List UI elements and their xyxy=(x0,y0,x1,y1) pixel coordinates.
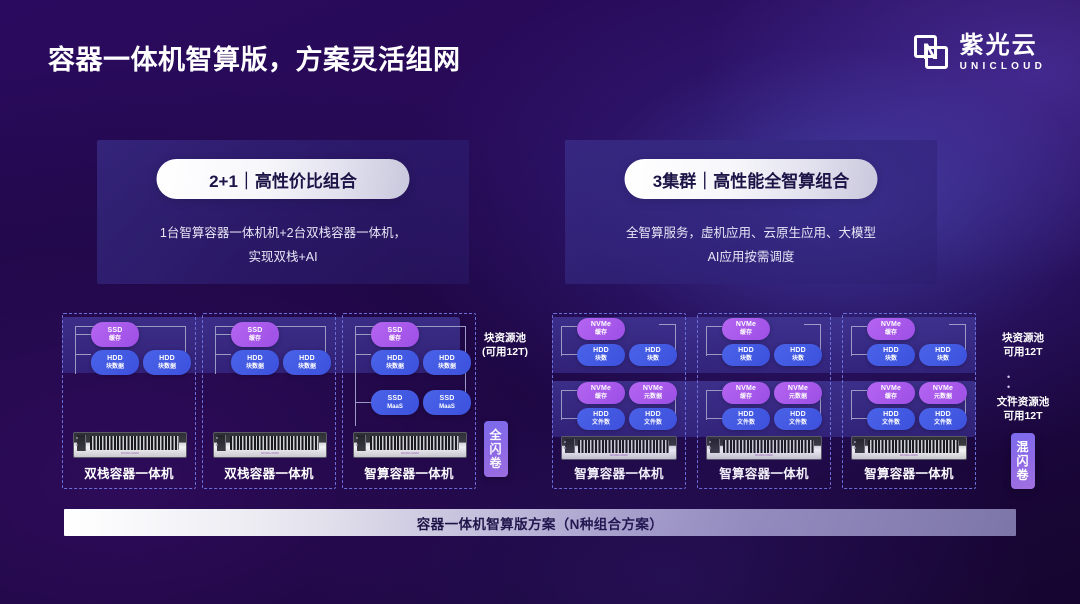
node-nvme-cache-block[interactable]: NVMe 缓存 xyxy=(577,318,625,340)
volume-tag-left[interactable]: 全 闪 卷 xyxy=(484,421,508,477)
option-pill-right: 3集群｜高性能全智算组合 xyxy=(625,159,878,199)
node-column-left-3[interactable]: SSD 缓存 HDD 块数据 HDD 块数据 SSD MaaS SSD Ma xyxy=(342,313,476,489)
node-ssd-cache[interactable]: SSD 缓存 xyxy=(371,322,419,347)
column-label: 智算容器一体机 xyxy=(698,463,830,482)
server-appliance: UNICLOUD xyxy=(353,432,467,458)
volume-tag-char-3: 卷 xyxy=(1016,468,1029,482)
node-hdd-block-1[interactable]: HDD 块数据 xyxy=(231,350,279,375)
column-label: 智算容器一体机 xyxy=(553,463,685,482)
option-pill-left: 2+1｜高性价比组合 xyxy=(157,159,410,199)
option-desc-left-line2: 实现双栈+AI xyxy=(97,245,469,269)
volume-tag-char-3: 卷 xyxy=(489,456,502,470)
architecture-diagram: SSD 缓存 HDD 块数据 HDD 块数据 UNICLOUD 双栈容器一体机 xyxy=(0,305,1080,495)
node-nvme-metadata[interactable]: NVMe 元数据 xyxy=(774,382,822,404)
node-ssd-maas-1[interactable]: SSD MaaS xyxy=(371,390,419,415)
pool-label-line1: 块资源池 xyxy=(466,331,544,345)
column-label: 双栈容器一体机 xyxy=(63,463,195,482)
server-appliance: UNICLOUD xyxy=(213,432,327,458)
server-appliance: UNICLOUD xyxy=(706,436,822,460)
pool-label-block-right: 块资源池 可用12T xyxy=(984,331,1062,359)
option-panel-left: 2+1｜高性价比组合 1台智算容器一体机机+2台双栈容器一体机， 实现双栈+AI xyxy=(97,140,469,284)
pool-label-file-line1: 文件资源池 xyxy=(984,395,1062,409)
node-hdd-block-2[interactable]: HDD 块数 xyxy=(774,344,822,366)
column-label: 智算容器一体机 xyxy=(343,463,475,482)
node-hdd-file-2[interactable]: HDD 文件数 xyxy=(774,408,822,430)
node-ssd-maas-2[interactable]: SSD MaaS xyxy=(423,390,471,415)
node-hdd-block-1[interactable]: HDD 块数 xyxy=(867,344,915,366)
slide-canvas: 容器一体机智算版，方案灵活组网 N 紫光云 UNICLOUD 2+1｜高性价比组… xyxy=(0,0,1080,604)
option-desc-left: 1台智算容器一体机机+2台双栈容器一体机， 实现双栈+AI xyxy=(97,221,469,269)
option-desc-right-line2: AI应用按需调度 xyxy=(565,245,937,269)
node-nvme-cache-block[interactable]: NVMe 缓存 xyxy=(722,318,770,340)
volume-tag-char-2: 闪 xyxy=(489,442,502,456)
option-desc-right-line1: 全智算服务，虚机应用、云原生应用、大模型 xyxy=(565,221,937,245)
footer-caption: 容器一体机智算版方案（N种组合方案） xyxy=(417,513,663,533)
node-hdd-file-2[interactable]: HDD 文件数 xyxy=(629,408,677,430)
node-nvme-metadata[interactable]: NVMe 元数据 xyxy=(629,382,677,404)
option-panel-right: 3集群｜高性能全智算组合 全智算服务，虚机应用、云原生应用、大模型 AI应用按需… xyxy=(565,140,937,284)
pool-label-file-right: 文件资源池 可用12T xyxy=(984,395,1062,423)
server-appliance: UNICLOUD xyxy=(561,436,677,460)
node-nvme-cache-file[interactable]: NVMe 缓存 xyxy=(867,382,915,404)
node-column-right-3[interactable]: NVMe 缓存 HDD 块数 HDD 块数 NVMe 缓存 NVMe 元数据 xyxy=(842,313,976,489)
pool-label-block-line2: 可用12T xyxy=(984,345,1062,359)
node-hdd-block-2[interactable]: HDD 块数 xyxy=(629,344,677,366)
volume-tag-char-1: 混 xyxy=(1016,440,1029,454)
option-desc-right: 全智算服务，虚机应用、云原生应用、大模型 AI应用按需调度 xyxy=(565,221,937,269)
cluster-group-right: NVMe 缓存 HDD 块数 HDD 块数 NVMe 缓存 NVMe 元数据 xyxy=(552,305,1018,495)
pool-label-block-line1: 块资源池 xyxy=(984,331,1062,345)
brand-letter: N xyxy=(923,41,939,63)
slide-header: 容器一体机智算版，方案灵活组网 N 紫光云 UNICLOUD xyxy=(0,0,1080,104)
node-column-right-2[interactable]: NVMe 缓存 HDD 块数 HDD 块数 NVMe 缓存 NVMe 元数据 xyxy=(697,313,831,489)
node-hdd-file-1[interactable]: HDD 文件数 xyxy=(722,408,770,430)
node-column-right-1[interactable]: NVMe 缓存 HDD 块数 HDD 块数 NVMe 缓存 NVMe 元数据 xyxy=(552,313,686,489)
pool-label-block-left: 块资源池 (可用12T) xyxy=(466,331,544,359)
unicloud-logo-icon: N xyxy=(914,35,950,71)
node-nvme-cache-block[interactable]: NVMe 缓存 xyxy=(867,318,915,340)
node-hdd-block-2[interactable]: HDD 块数据 xyxy=(143,350,191,375)
node-hdd-block-1[interactable]: HDD 块数据 xyxy=(371,350,419,375)
node-hdd-file-2[interactable]: HDD 文件数 xyxy=(919,408,967,430)
node-nvme-cache-file[interactable]: NVMe 缓存 xyxy=(722,382,770,404)
volume-tag-char-1: 全 xyxy=(489,428,502,442)
pool-label-line2: (可用12T) xyxy=(466,345,544,359)
volume-tag-char-2: 闪 xyxy=(1016,454,1029,468)
brand-name-en: UNICLOUD xyxy=(960,62,1046,72)
node-ssd-cache[interactable]: SSD 缓存 xyxy=(91,322,139,347)
node-hdd-block-2[interactable]: HDD 块数 xyxy=(919,344,967,366)
volume-tag-right[interactable]: 混 闪 卷 xyxy=(1011,433,1035,489)
column-label: 双栈容器一体机 xyxy=(203,463,335,482)
node-nvme-metadata[interactable]: NVMe 元数据 xyxy=(919,382,967,404)
node-hdd-block-1[interactable]: HDD 块数据 xyxy=(91,350,139,375)
node-line2: 缓存 xyxy=(109,336,121,343)
node-line1: SSD xyxy=(108,327,123,335)
server-appliance: UNICLOUD xyxy=(851,436,967,460)
column-label: 智算容器一体机 xyxy=(843,463,975,482)
node-hdd-file-1[interactable]: HDD 文件数 xyxy=(867,408,915,430)
brand-name-cn: 紫光云 xyxy=(960,34,1046,58)
node-nvme-cache-file[interactable]: NVMe 缓存 xyxy=(577,382,625,404)
node-hdd-file-1[interactable]: HDD 文件数 xyxy=(577,408,625,430)
server-appliance: UNICLOUD xyxy=(73,432,187,458)
node-hdd-block-2[interactable]: HDD 块数据 xyxy=(283,350,331,375)
pool-label-file-line2: 可用12T xyxy=(984,409,1062,423)
node-ssd-cache[interactable]: SSD 缓存 xyxy=(231,322,279,347)
footer-caption-bar: 容器一体机智算版方案（N种组合方案） xyxy=(64,509,1016,536)
option-desc-left-line1: 1台智算容器一体机机+2台双栈容器一体机， xyxy=(97,221,469,245)
cluster-group-left: SSD 缓存 HDD 块数据 HDD 块数据 UNICLOUD 双栈容器一体机 xyxy=(62,305,502,495)
node-hdd-block-1[interactable]: HDD 块数 xyxy=(722,344,770,366)
node-hdd-block-1[interactable]: HDD 块数 xyxy=(577,344,625,366)
node-hdd-block-2[interactable]: HDD 块数据 xyxy=(423,350,471,375)
node-column-left-1[interactable]: SSD 缓存 HDD 块数据 HDD 块数据 UNICLOUD 双栈容器一体机 xyxy=(62,313,196,489)
page-title: 容器一体机智算版，方案灵活组网 xyxy=(48,38,461,77)
brand-logo: N 紫光云 UNICLOUD xyxy=(914,34,1046,72)
node-column-left-2[interactable]: SSD 缓存 HDD 块数据 HDD 块数据 UNICLOUD 双栈容器一体机 xyxy=(202,313,336,489)
